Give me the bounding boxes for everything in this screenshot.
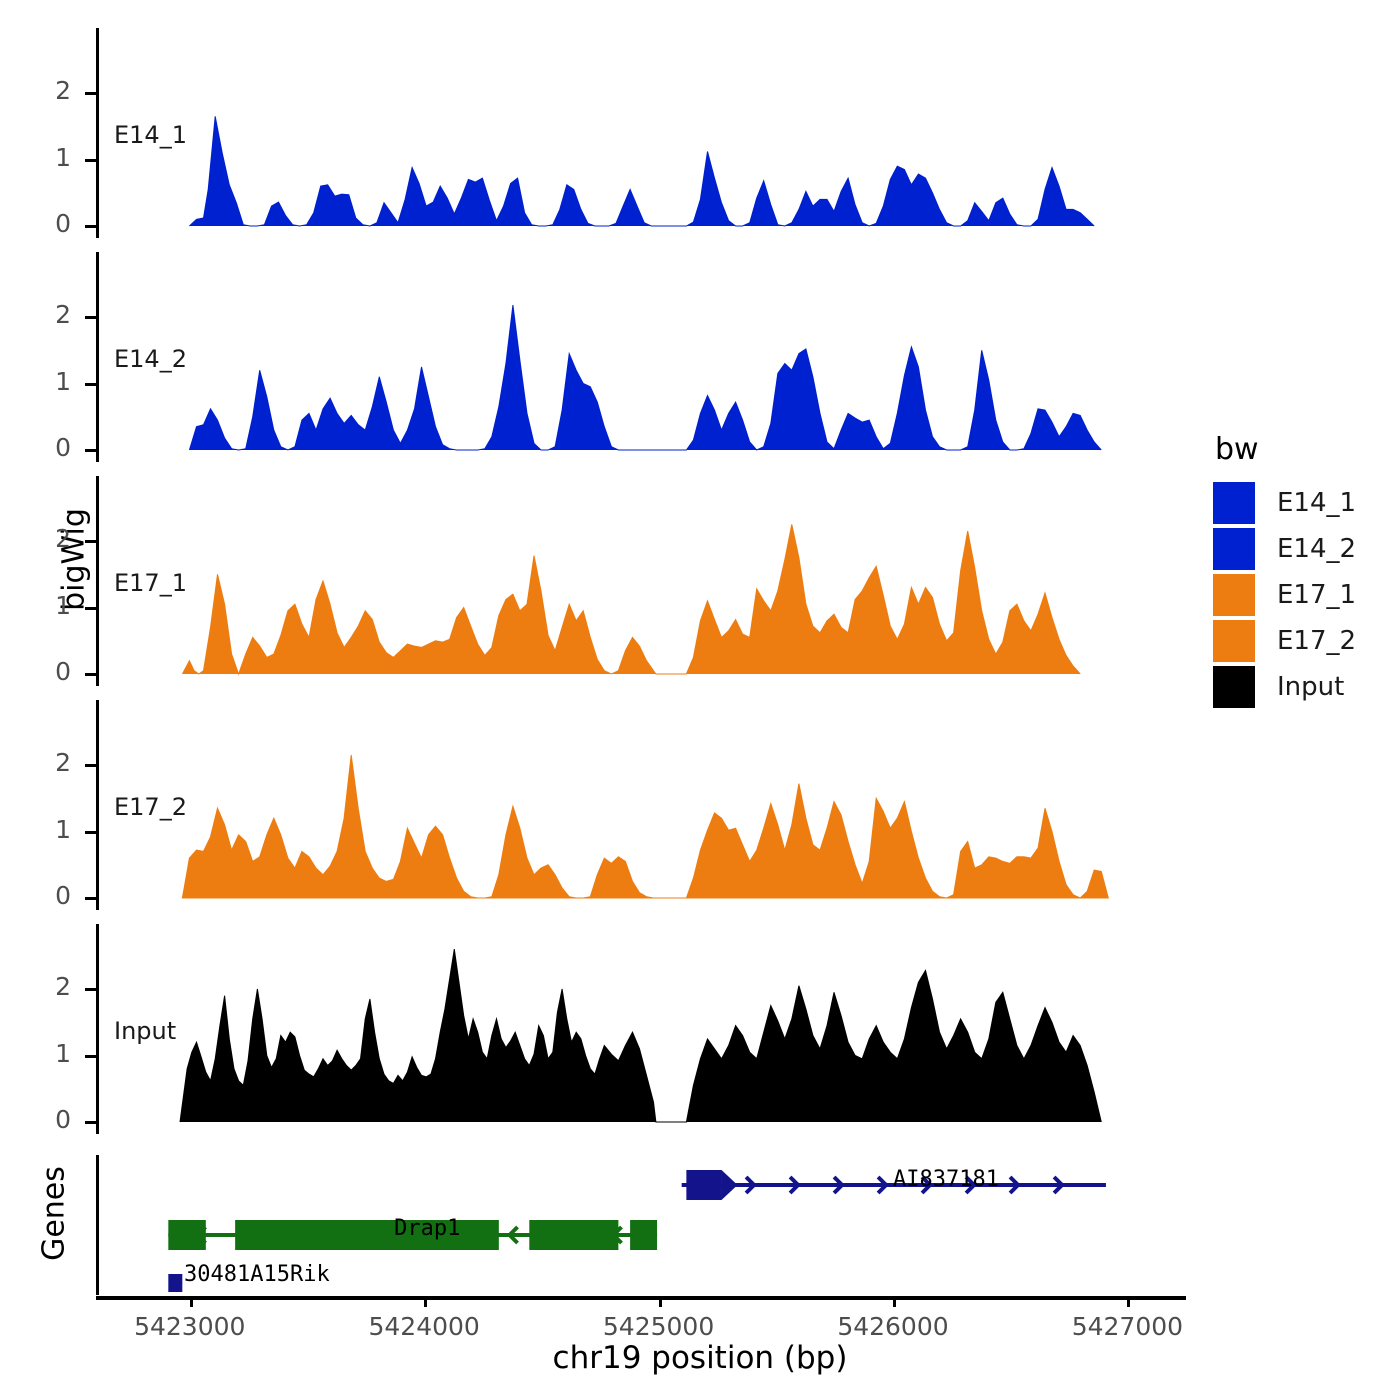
y-tick-label: 1 xyxy=(11,143,71,172)
legend-title: bw xyxy=(1215,432,1356,467)
y-tick xyxy=(85,988,96,991)
track-area-e17_1 xyxy=(98,476,1198,686)
y-tick xyxy=(85,897,96,900)
y-tick xyxy=(85,159,96,162)
gene-label-ai837181: AI837181 xyxy=(893,1167,999,1192)
y-tick xyxy=(85,449,96,452)
legend-label: E14_2 xyxy=(1277,534,1356,564)
y-tick-label: 1 xyxy=(11,367,71,396)
y-tick-label: 2 xyxy=(11,524,71,553)
track-area-e14_2 xyxy=(98,252,1198,462)
x-tick-label: 5424000 xyxy=(324,1312,524,1341)
x-tick-label: 5426000 xyxy=(793,1312,993,1341)
legend-item-input[interactable]: Input xyxy=(1213,665,1356,709)
legend-item-e14_1[interactable]: E14_1 xyxy=(1213,481,1356,525)
y-tick-label: 1 xyxy=(11,591,71,620)
x-tick xyxy=(190,1296,193,1307)
y-tick-label: 0 xyxy=(11,657,71,686)
track-panel-e17_1: 012E17_1 xyxy=(96,476,1196,686)
track-panel-e14_2: 012E14_2 xyxy=(96,252,1196,462)
legend-label: E14_1 xyxy=(1277,488,1356,518)
legend-label: E17_2 xyxy=(1277,626,1356,656)
y-tick-label: 0 xyxy=(11,1105,71,1134)
x-tick xyxy=(893,1296,896,1307)
gene-label-drap1: Drap1 xyxy=(394,1216,460,1241)
y-tick xyxy=(85,540,96,543)
x-tick xyxy=(1127,1296,1130,1307)
y-tick xyxy=(85,764,96,767)
x-tick xyxy=(659,1296,662,1307)
y-tick xyxy=(85,316,96,319)
legend-item-e14_2[interactable]: E14_2 xyxy=(1213,527,1356,571)
track-panel-e14_1: 012E14_1 xyxy=(96,28,1196,238)
legend-item-e17_1[interactable]: E17_1 xyxy=(1213,573,1356,617)
y-tick-label: 0 xyxy=(11,209,71,238)
y-tick-label: 1 xyxy=(11,1039,71,1068)
x-axis-title: chr19 position (bp) xyxy=(200,1340,1200,1376)
x-axis-line xyxy=(96,1296,1186,1300)
y-tick-label: 2 xyxy=(11,76,71,105)
track-area-e17_2 xyxy=(98,700,1198,910)
track-area-e14_1 xyxy=(98,28,1198,238)
legend-item-e17_2[interactable]: E17_2 xyxy=(1213,619,1356,663)
y-tick xyxy=(85,1055,96,1058)
y-tick-label: 0 xyxy=(11,881,71,910)
y-tick xyxy=(85,607,96,610)
legend-swatch xyxy=(1213,528,1255,570)
legend-items: E14_1E14_2E17_1E17_2Input xyxy=(1213,481,1356,709)
legend-swatch xyxy=(1213,620,1255,662)
y-tick xyxy=(85,673,96,676)
legend: bw E14_1E14_2E17_1E17_2Input xyxy=(1213,432,1356,711)
x-tick-label: 5425000 xyxy=(559,1312,759,1341)
y-tick-label: 2 xyxy=(11,972,71,1001)
y-tick-label: 2 xyxy=(11,300,71,329)
y-tick xyxy=(85,92,96,95)
legend-swatch xyxy=(1213,666,1255,708)
y-tick-label: 0 xyxy=(11,433,71,462)
x-tick xyxy=(424,1296,427,1307)
y-tick-label: 2 xyxy=(11,748,71,777)
track-area-input xyxy=(98,924,1198,1134)
x-tick-label: 5423000 xyxy=(90,1312,290,1341)
genes-axis-title: Genes xyxy=(37,1134,72,1294)
gene-label-30481a15rik: 30481A15Rik xyxy=(184,1262,330,1287)
y-tick-label: 1 xyxy=(11,815,71,844)
legend-label: Input xyxy=(1277,672,1344,702)
track-panel-input: 012Input xyxy=(96,924,1196,1134)
x-tick-label: 5427000 xyxy=(1027,1312,1227,1341)
y-tick xyxy=(85,225,96,228)
legend-swatch xyxy=(1213,574,1255,616)
y-tick xyxy=(85,383,96,386)
legend-label: E17_1 xyxy=(1277,580,1356,610)
legend-swatch xyxy=(1213,482,1255,524)
y-tick xyxy=(85,831,96,834)
y-tick xyxy=(85,1121,96,1124)
track-panel-e17_2: 012E17_2 xyxy=(96,700,1196,910)
